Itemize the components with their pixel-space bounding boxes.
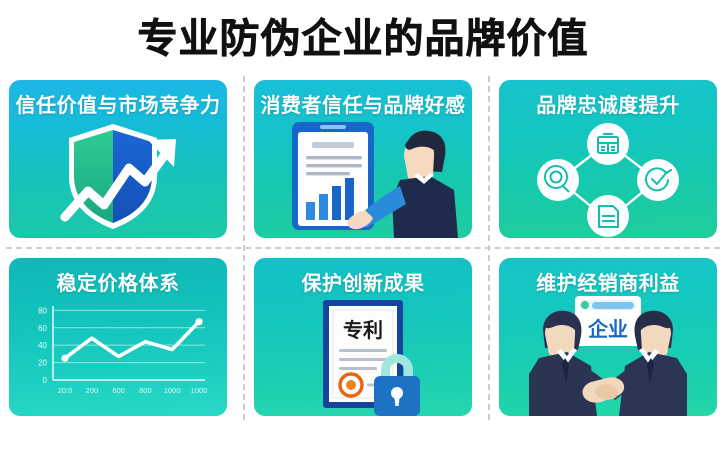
x-axis-tick-label: 1000 <box>191 386 208 395</box>
card-stable-price[interactable]: 稳定价格体系 020406080 20:020060080010001000 <box>9 258 227 416</box>
data-point-marker <box>61 355 68 362</box>
card-title-stable-price: 稳定价格体系 <box>9 271 227 295</box>
person-tablet-barchart-icon <box>254 116 472 238</box>
page-title: 专业防伪企业的品牌价值 <box>0 16 726 62</box>
x-axis-tick-label: 600 <box>112 386 125 395</box>
separator-horizontal <box>6 247 720 249</box>
card-consumer-trust[interactable]: 消费者信任与品牌好感 <box>254 80 472 238</box>
y-axis-tick-label: 60 <box>38 324 47 333</box>
x-axis-tick-label: 1000 <box>164 386 181 395</box>
card-trust-value[interactable]: 信任价值与市场竞争力 <box>9 80 227 238</box>
y-axis-tick-label: 0 <box>43 376 48 385</box>
cards-grid: 信任价值与市场竞争力 <box>0 76 726 420</box>
data-point-marker <box>195 318 202 325</box>
line-chart-icon: 020406080 20:020060080010001000 <box>9 292 227 416</box>
card-protect-innovation[interactable]: 保护创新成果 专利 <box>254 258 472 416</box>
x-axis-tick-label: 20:0 <box>58 386 73 395</box>
card-title-trust-value: 信任价值与市场竞争力 <box>9 93 227 117</box>
card-protect-dealers[interactable]: 维护经销商利益 企业 <box>499 258 717 416</box>
enterprise-label: 企业 <box>587 317 628 341</box>
card-title-protect-innovation: 保护创新成果 <box>254 271 472 295</box>
shield-growth-arrow-icon <box>9 116 227 238</box>
handshake-enterprise-icon: 企业 <box>499 294 717 416</box>
infographic-page: 专业防伪企业的品牌价值 信任价值与市场竞争力 <box>0 0 726 450</box>
card-brand-loyalty[interactable]: 品牌忠诚度提升 <box>499 80 717 238</box>
card-title-consumer-trust: 消费者信任与品牌好感 <box>254 93 472 117</box>
card-title-brand-loyalty: 品牌忠诚度提升 <box>499 93 717 117</box>
x-axis-tick-label: 800 <box>139 386 152 395</box>
y-axis-tick-label: 80 <box>38 306 47 315</box>
card-title-protect-dealers: 维护经销商利益 <box>499 271 717 295</box>
price-line-chart: 020406080 20:020060080010001000 <box>9 292 227 416</box>
x-axis-tick-label: 200 <box>86 386 99 395</box>
y-axis-tick-label: 40 <box>38 341 47 350</box>
network-diamond-nodes-icon <box>499 116 717 238</box>
patent-label: 专利 <box>343 318 383 342</box>
y-axis-tick-label: 20 <box>38 359 47 368</box>
patent-certificate-lock-icon: 专利 <box>254 294 472 416</box>
